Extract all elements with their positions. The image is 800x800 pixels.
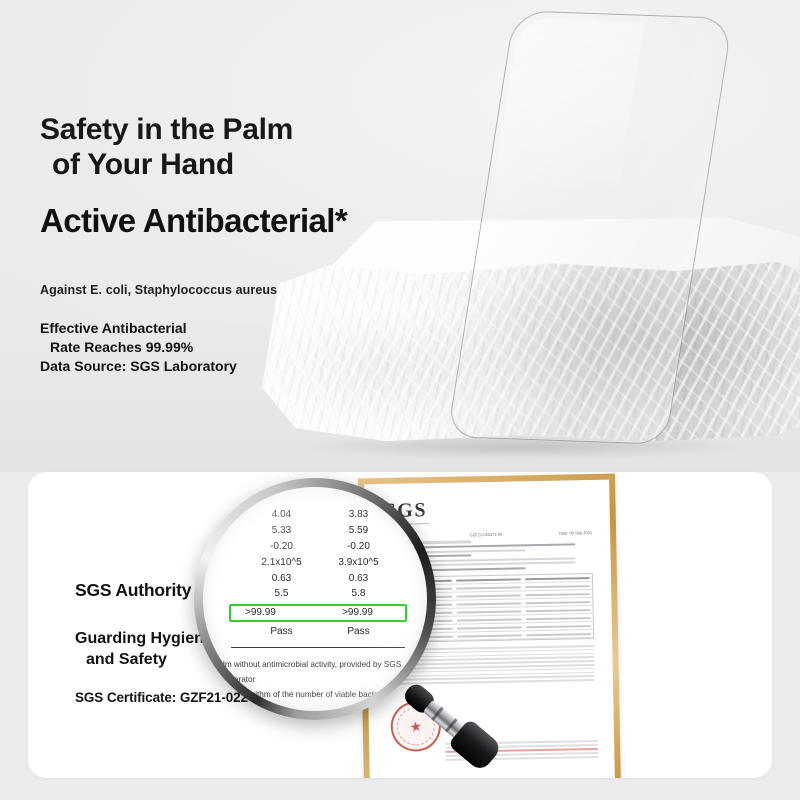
table-row: 0.63 0.63	[229, 570, 407, 586]
footnote-line: logarithm of the number of viable bacter…	[223, 687, 413, 711]
table-row: 4.04 3.83	[229, 507, 407, 523]
cell-left: Pass	[243, 626, 320, 637]
cell-right: 3.9x10^5	[320, 557, 397, 568]
headline-emphasis: Active Antibacterial*	[40, 203, 470, 239]
cell-right: 3.83	[320, 509, 397, 520]
claim-line-1: Effective Antibacterial	[40, 319, 470, 338]
magnifier-lens: 4.04 3.83 5.33 5.59 -0.20 -0.20 2.1x10^5…	[203, 487, 427, 711]
cell-left: >99.99	[245, 607, 320, 618]
cell-left: -0.20	[243, 541, 320, 552]
cell-left: 5.33	[243, 525, 320, 536]
sgs-report-card: SGS Authority Report Guarding Hygiene an…	[28, 472, 772, 778]
table-row: 5.5 5.8	[229, 586, 407, 602]
claim-line-3: Data Source: SGS Laboratory	[40, 357, 470, 376]
table-row: Pass Pass	[229, 624, 407, 640]
headline-line-2: of Your Hand	[40, 147, 470, 182]
cell-left: 5.5	[243, 588, 320, 599]
product-feature-page: Safety in the Palm of Your Hand Active A…	[0, 0, 800, 800]
magnifier-icon: 4.04 3.83 5.33 5.59 -0.20 -0.20 2.1x10^5…	[194, 478, 436, 720]
hero-copy: Safety in the Palm of Your Hand Active A…	[40, 112, 470, 376]
cell-right: -0.20	[320, 541, 397, 552]
hero-claim: Effective Antibacterial Rate Reaches 99.…	[40, 319, 470, 376]
table-row: -0.20 -0.20	[229, 539, 407, 555]
cell-left: 4.04	[243, 509, 320, 520]
magnified-results-table: 4.04 3.83 5.33 5.59 -0.20 -0.20 2.1x10^5…	[229, 507, 407, 654]
table-row: 5.33 5.59	[229, 523, 407, 539]
cell-left: 2.1x10^5	[243, 557, 320, 568]
cell-right: Pass	[320, 626, 397, 637]
cell-right: 5.8	[320, 588, 397, 599]
cell-right: 5.59	[320, 525, 397, 536]
cell-left: 0.63	[243, 573, 320, 584]
table-divider	[231, 647, 405, 648]
table-row-highlighted: >99.99 >99.99	[229, 604, 407, 622]
footnote-line: lm without antimicrobial activity, provi…	[223, 657, 413, 687]
claim-line-2: Rate Reaches 99.99%	[40, 338, 470, 357]
report-number: GZF21-022471-05	[470, 532, 503, 538]
table-row: 2.1x10^5 3.9x10^5	[229, 554, 407, 570]
magnified-footnotes: lm without antimicrobial activity, provi…	[223, 657, 413, 711]
cell-right: >99.99	[320, 607, 395, 618]
hero-section: Safety in the Palm of Your Hand Active A…	[0, 0, 800, 472]
report-date: Date: 09 Sep 2021	[559, 530, 592, 536]
headline-line-1: Safety in the Palm	[40, 112, 470, 147]
glass-sheen	[481, 18, 644, 271]
hero-subtext: Against E. coli, Staphylococcus aureus	[40, 283, 470, 297]
cell-right: 0.63	[320, 573, 397, 584]
